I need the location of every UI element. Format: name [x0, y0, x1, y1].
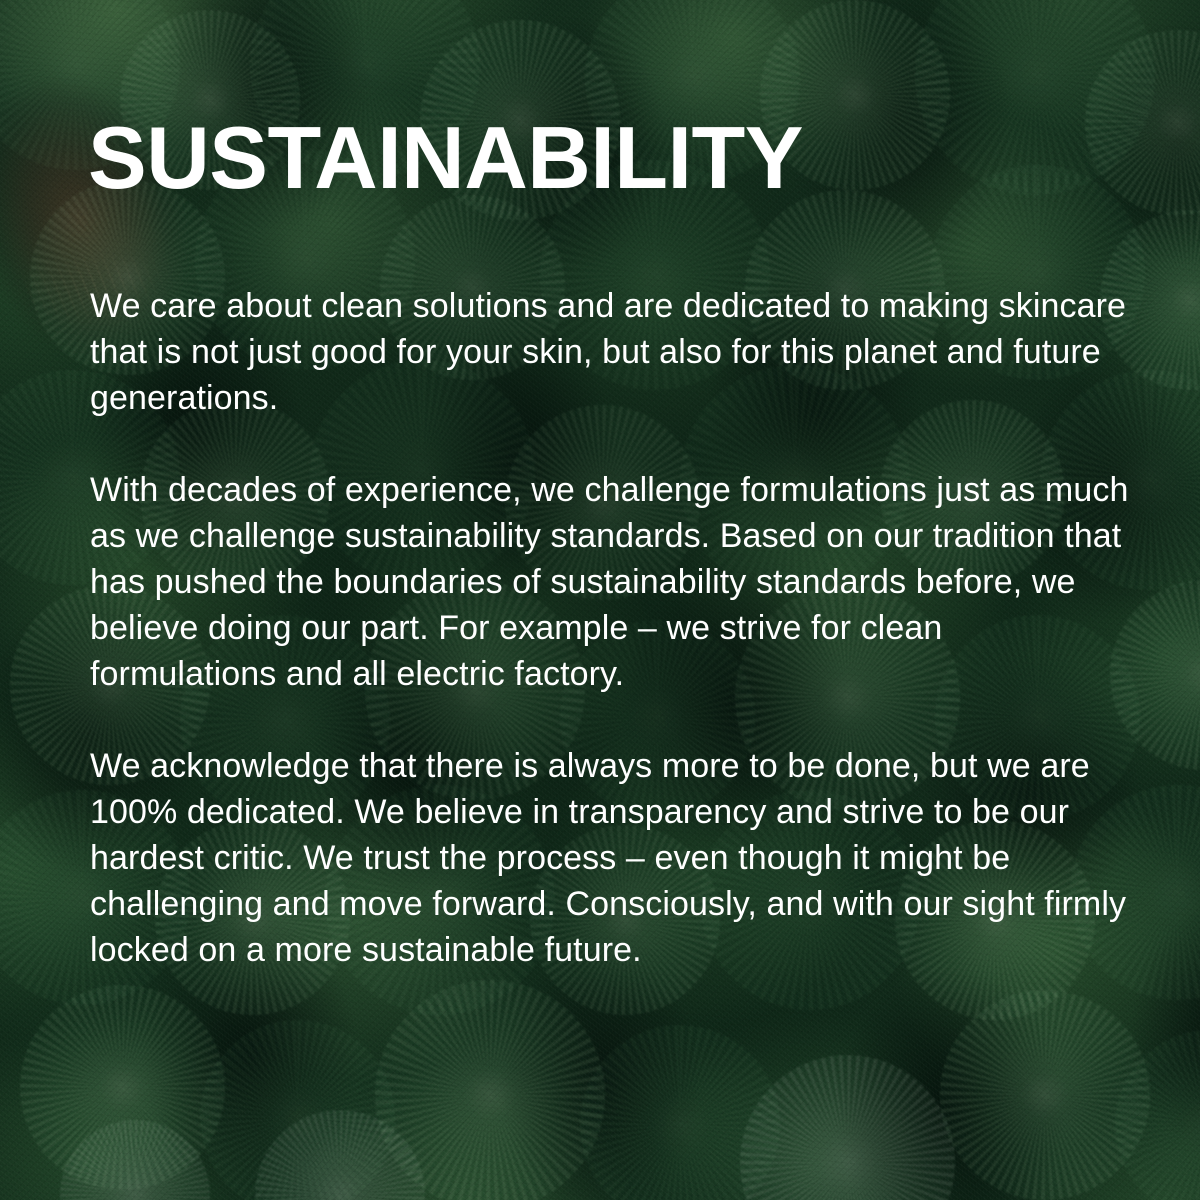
paragraph-2: With decades of experience, we challenge… [90, 467, 1138, 697]
paragraph-3: We acknowledge that there is always more… [90, 743, 1138, 973]
sustainability-page: SUSTAINABILITY We care about clean solut… [0, 0, 1200, 1200]
body-copy: We care about clean solutions and are de… [90, 283, 1138, 973]
content-overlay: SUSTAINABILITY We care about clean solut… [88, 0, 1148, 1200]
paragraph-1: We care about clean solutions and are de… [90, 283, 1138, 421]
page-title: SUSTAINABILITY [88, 114, 803, 202]
